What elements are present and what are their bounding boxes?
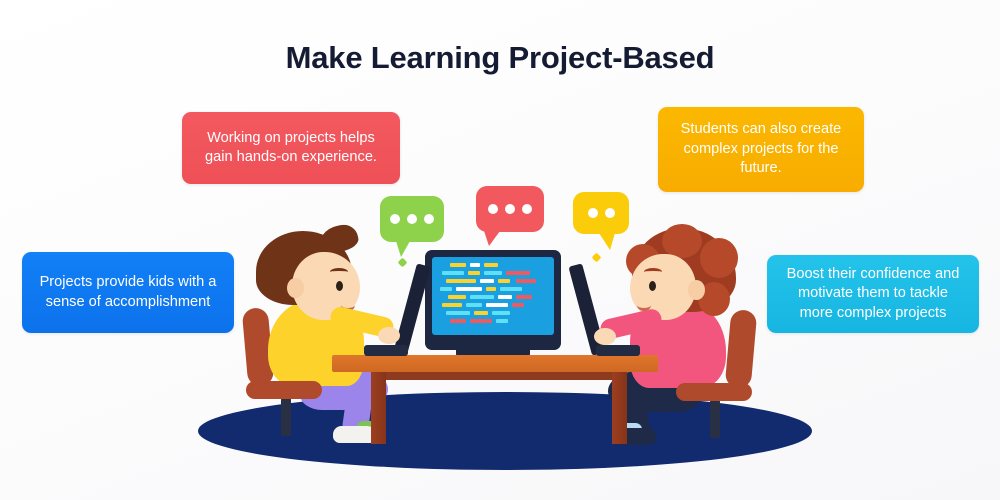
code-bar	[498, 279, 510, 283]
code-bar	[470, 295, 494, 299]
code-bar	[450, 263, 466, 267]
laptop-base-right	[596, 345, 640, 356]
code-bar	[484, 263, 498, 267]
bubble-tail	[484, 231, 500, 246]
chair-post-right	[710, 400, 720, 438]
code-bar	[470, 263, 480, 267]
code-bar	[446, 279, 476, 283]
code-bar	[440, 287, 452, 291]
bubble-dot	[588, 208, 598, 218]
callout-boost-confidence[interactable]: Boost their confidence and motivate them…	[767, 255, 979, 333]
chair-seat-right	[676, 383, 752, 401]
code-bar	[484, 271, 502, 275]
kid-left-eyebrow	[330, 268, 348, 276]
kid-right-eyebrow	[644, 268, 662, 276]
desk-leg-left	[371, 372, 386, 444]
code-bar	[486, 303, 508, 307]
code-bar	[500, 287, 522, 291]
kid-right-ear	[688, 280, 705, 300]
bubble-pip	[592, 253, 602, 263]
speech-bubble-red-icon	[476, 186, 544, 232]
page-title: Make Learning Project-Based	[0, 40, 1000, 76]
code-bar	[498, 295, 512, 299]
infographic-canvas: Make Learning Project-Based	[0, 0, 1000, 500]
bubble-dot	[390, 214, 400, 224]
callout-hands-on-experience[interactable]: Working on projects helps gain hands-on …	[182, 112, 400, 184]
kid-left-eye	[336, 281, 343, 291]
kid-right-eye	[649, 281, 656, 291]
speech-bubble-green-icon	[380, 196, 444, 242]
desk-brace	[371, 372, 627, 380]
code-bar	[474, 311, 488, 315]
callout-sense-of-accomplishment[interactable]: Projects provide kids with a sense of ac…	[22, 252, 234, 333]
code-bar	[468, 271, 480, 275]
code-bar	[456, 287, 482, 291]
bubble-dot	[505, 204, 515, 214]
code-bar	[512, 303, 524, 307]
kid-right-hair-curl	[662, 224, 702, 258]
code-bar	[442, 303, 462, 307]
bubble-pip	[398, 258, 408, 268]
callout-text: Boost their confidence and motivate them…	[780, 265, 966, 323]
bubble-dot	[605, 208, 615, 218]
laptop-base-left	[364, 345, 408, 356]
bubble-dot	[488, 204, 498, 214]
kid-left-hand	[378, 327, 400, 344]
code-bar	[496, 319, 508, 323]
callout-text: Students can also create complex project…	[671, 120, 851, 178]
kid-right-hair-curl	[700, 238, 738, 278]
speech-bubble-yellow-icon	[573, 192, 629, 234]
bubble-tail	[599, 233, 615, 250]
chair-post-left	[281, 398, 291, 436]
bubble-dot	[522, 204, 532, 214]
monitor-screen	[432, 257, 554, 335]
desk-top	[332, 355, 658, 372]
code-bar	[480, 279, 494, 283]
monitor	[425, 250, 561, 350]
code-bar	[506, 271, 530, 275]
chair-back-right	[725, 309, 758, 389]
code-bar	[450, 319, 466, 323]
kid-left-ear	[287, 278, 304, 298]
code-bar	[516, 295, 532, 299]
callout-complex-projects-future[interactable]: Students can also create complex project…	[658, 107, 864, 192]
chair-seat-left	[246, 381, 322, 399]
code-bar	[516, 279, 536, 283]
bubble-tail	[396, 241, 410, 257]
bubble-dot	[407, 214, 417, 224]
desk-leg-right	[612, 372, 627, 444]
code-bar	[486, 287, 496, 291]
callout-text: Projects provide kids with a sense of ac…	[35, 273, 221, 312]
kid-left-hair-tuft	[316, 222, 361, 256]
code-bar	[442, 271, 464, 275]
code-bar	[446, 311, 470, 315]
bubble-dot	[424, 214, 434, 224]
callout-text: Working on projects helps gain hands-on …	[195, 129, 387, 168]
code-bar	[448, 295, 466, 299]
code-bar	[466, 303, 482, 307]
kid-right-hand	[594, 328, 616, 345]
code-bar	[470, 319, 492, 323]
code-bar	[492, 311, 510, 315]
